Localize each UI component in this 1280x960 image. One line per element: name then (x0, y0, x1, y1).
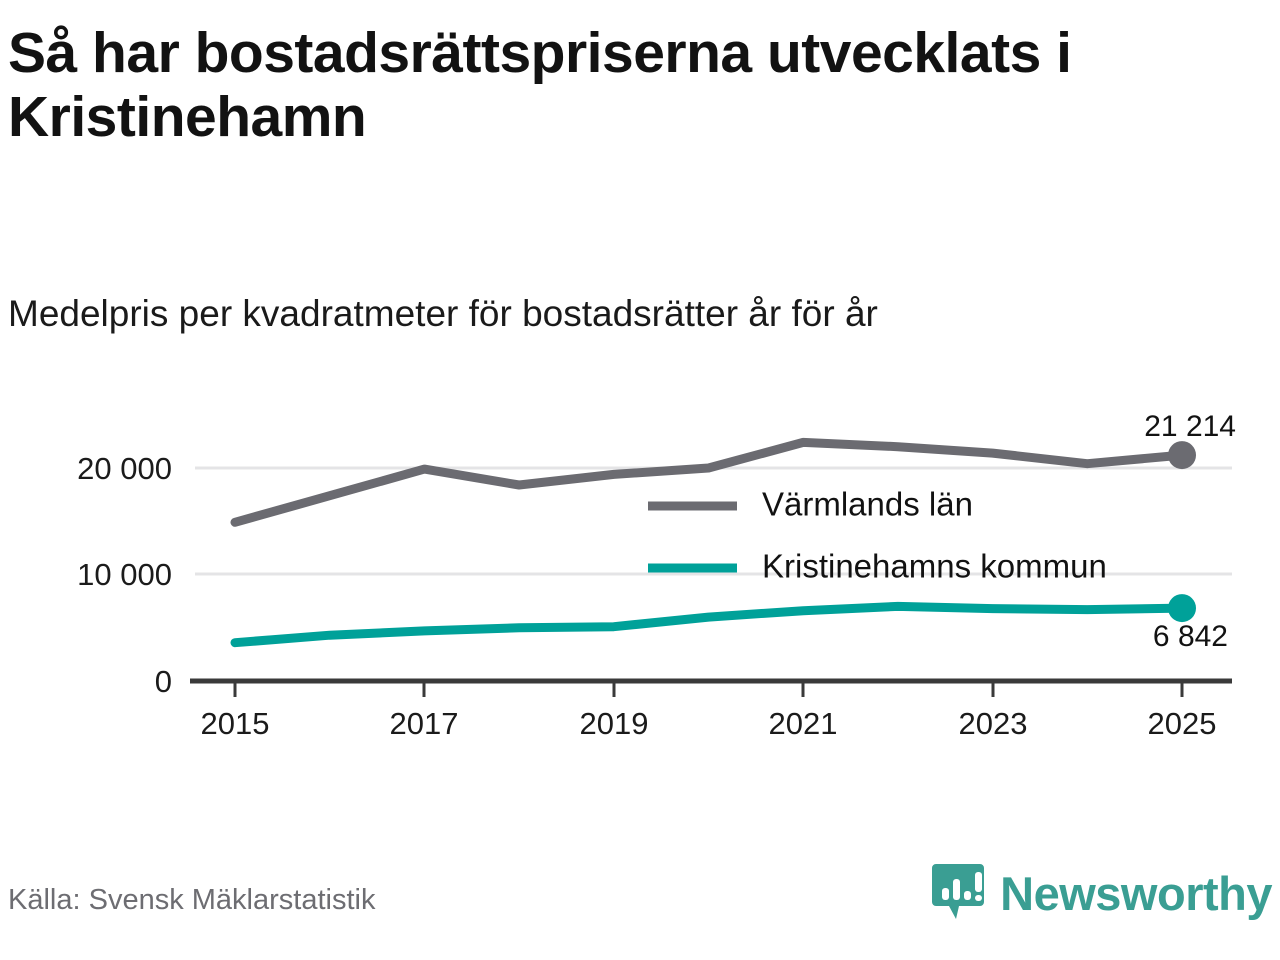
xtick-label-2019: 2019 (580, 706, 649, 741)
value-label-kristinehamns-kommun: 6 842 (1153, 620, 1228, 653)
source-note: Källa: Svensk Mäklarstatistik (8, 884, 375, 917)
page-subtitle: Medelpris per kvadratmeter för bostadsrä… (8, 292, 1268, 336)
xtick-label-2017: 2017 (390, 706, 459, 741)
brand-name: Newsworthy (1000, 870, 1272, 917)
series-endpoint-marker-kristinehamns-kommun (1168, 594, 1196, 622)
brand-logo: Newsworthy (930, 862, 1272, 924)
infographic-page: Så har bostadsrättspriserna utvecklats i… (0, 0, 1280, 960)
ytick-label-20000: 20 000 (77, 451, 172, 486)
value-label-varmlands-lan: 21 214 (1144, 410, 1236, 443)
xtick-label-2015: 2015 (201, 706, 270, 741)
series-endpoint-marker-varmlands-lan (1168, 441, 1196, 469)
chart-svg: 20 000 10 000 0 2015 2017 2019 2021 2023… (0, 390, 1280, 750)
ytick-label-10000: 10 000 (77, 557, 172, 592)
xtick-label-2023: 2023 (959, 706, 1028, 741)
legend-label-varmlands-lan: Värmlands län (762, 486, 973, 523)
ytick-label-0: 0 (155, 664, 172, 699)
line-chart: 20 000 10 000 0 2015 2017 2019 2021 2023… (0, 390, 1280, 750)
series-line-kristinehamns-kommun (235, 606, 1182, 642)
bar-chart-speech-bubble-icon (930, 862, 986, 924)
page-title: Så har bostadsrättspriserna utvecklats i… (8, 22, 1268, 150)
x-axis-tick-labels: 2015 2017 2019 2021 2023 2025 (201, 706, 1217, 741)
legend-label-kristinehamns-kommun: Kristinehamns kommun (762, 548, 1107, 585)
xtick-label-2025: 2025 (1148, 706, 1217, 741)
chart-legend: Värmlands län Kristinehamns kommun (648, 486, 1107, 585)
xtick-label-2021: 2021 (769, 706, 838, 741)
y-axis-tick-labels: 20 000 10 000 0 (77, 451, 172, 699)
